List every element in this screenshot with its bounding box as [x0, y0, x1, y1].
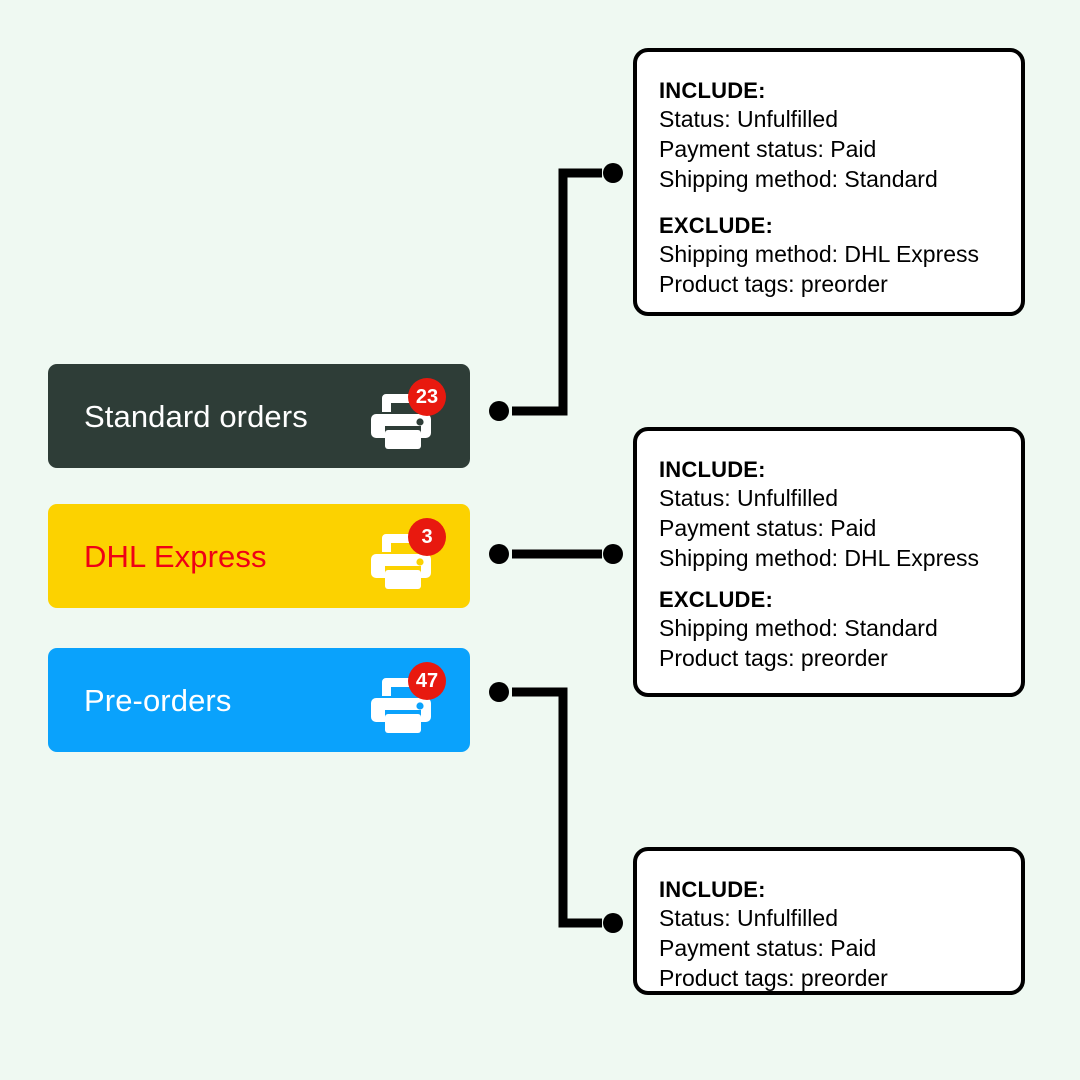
- badge-count: 3: [408, 518, 446, 556]
- print-button-dhl-express[interactable]: DHL Express 3: [48, 504, 470, 608]
- group-heading: EXCLUDE:: [659, 211, 1021, 240]
- filter-line: Product tags: preorder: [659, 964, 1021, 994]
- group-heading: EXCLUDE:: [659, 585, 1021, 614]
- filter-line: Shipping method: Standard: [659, 165, 1021, 195]
- connector-dot-preorders-right: [603, 913, 623, 933]
- filter-line: Status: Unfulfilled: [659, 105, 1021, 135]
- filter-card-dhl-express: INCLUDE: Status: Unfulfilled Payment sta…: [633, 427, 1025, 697]
- filter-card-standard-orders: INCLUDE: Status: Unfulfilled Payment sta…: [633, 48, 1025, 316]
- print-button-pre-orders[interactable]: Pre-orders 47: [48, 648, 470, 752]
- group-heading: INCLUDE:: [659, 875, 1021, 904]
- filter-line: Shipping method: Standard: [659, 614, 1021, 644]
- group-heading: INCLUDE:: [659, 76, 1021, 105]
- button-label: Pre-orders: [84, 685, 231, 716]
- diagram-canvas: Standard orders 23 DHL Express 3 Pre-ord: [0, 0, 1080, 1080]
- printer-icon-wrap: 47: [368, 664, 440, 736]
- filter-line: Status: Unfulfilled: [659, 904, 1021, 934]
- printer-icon-wrap: 3: [368, 520, 440, 592]
- filter-line: Product tags: preorder: [659, 644, 1021, 674]
- filter-line: Payment status: Paid: [659, 934, 1021, 964]
- filter-group-exclude: EXCLUDE: Shipping method: DHL Express Pr…: [659, 211, 1021, 300]
- connector-dot-standard-left: [489, 401, 509, 421]
- connector-dot-standard-right: [603, 163, 623, 183]
- filter-line: Status: Unfulfilled: [659, 484, 1021, 514]
- group-heading: INCLUDE:: [659, 455, 1021, 484]
- filter-group-include: INCLUDE: Status: Unfulfilled Payment sta…: [659, 76, 1021, 195]
- connector-dot-preorders-left: [489, 682, 509, 702]
- filter-line: Shipping method: DHL Express: [659, 544, 1021, 574]
- connector-dot-dhl-left: [489, 544, 509, 564]
- button-label: DHL Express: [84, 541, 267, 572]
- filter-line: Payment status: Paid: [659, 135, 1021, 165]
- printer-icon-wrap: 23: [368, 380, 440, 452]
- filter-group-include: INCLUDE: Status: Unfulfilled Payment sta…: [659, 875, 1021, 994]
- filter-card-pre-orders: INCLUDE: Status: Unfulfilled Payment sta…: [633, 847, 1025, 995]
- filter-line: Shipping method: DHL Express: [659, 240, 1021, 270]
- button-label: Standard orders: [84, 401, 308, 432]
- connector-standard: [512, 173, 602, 411]
- connector-preorders: [512, 692, 602, 923]
- print-button-standard-orders[interactable]: Standard orders 23: [48, 364, 470, 468]
- badge-count: 23: [408, 378, 446, 416]
- filter-group-exclude: EXCLUDE: Shipping method: Standard Produ…: [659, 585, 1021, 674]
- filter-group-include: INCLUDE: Status: Unfulfilled Payment sta…: [659, 455, 1021, 574]
- filter-line: Product tags: preorder: [659, 270, 1021, 300]
- connector-dot-dhl-right: [603, 544, 623, 564]
- filter-line: Payment status: Paid: [659, 514, 1021, 544]
- badge-count: 47: [408, 662, 446, 700]
